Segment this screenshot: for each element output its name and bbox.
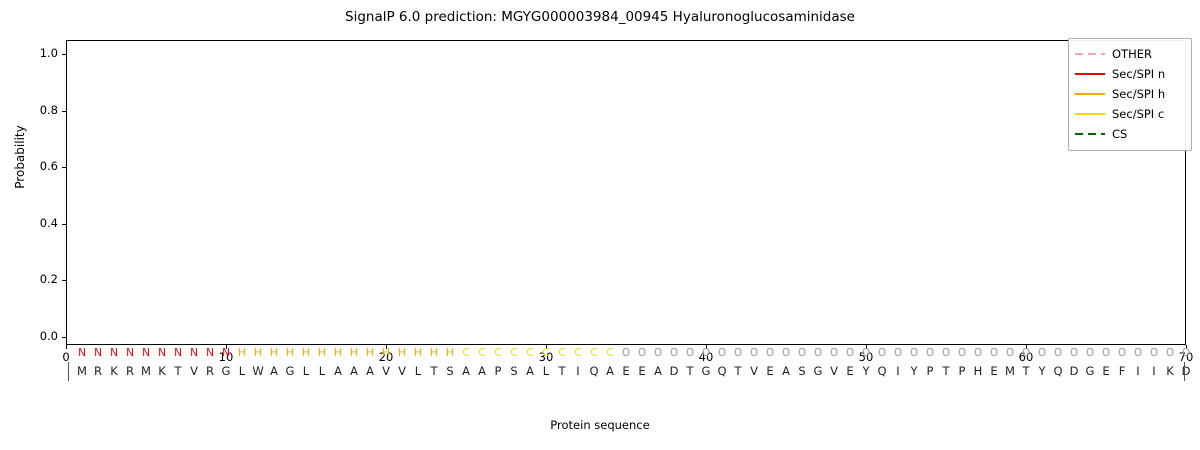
legend-item-label: Sec/SPI n [1112,67,1165,81]
residue-letter: D [1176,364,1196,378]
sequence-row-divider [68,362,69,381]
legend-swatch-icon [1075,68,1105,80]
legend-swatch-icon [1075,128,1105,140]
legend-swatch-icon [1075,108,1105,120]
legend-item-sec-spi-n[interactable]: Sec/SPI n [1075,64,1185,84]
legend-item-other[interactable]: OTHER [1075,44,1185,64]
legend-item-label: Sec/SPI c [1112,107,1164,121]
legend-item-cs[interactable]: CS [1075,124,1185,144]
annotation-letter: O [1176,347,1196,359]
sequence-row-divider [1184,362,1185,381]
x-axis-label: Protein sequence [0,418,1200,432]
legend-item-sec-spi-h[interactable]: Sec/SPI h [1075,84,1185,104]
y-tick-label: 0.2 [14,272,58,286]
y-tick-label: 0.6 [14,159,58,173]
legend-swatch-icon [1075,48,1105,60]
y-tick-label: 0.4 [14,216,58,230]
annotation-row: NNNNNNNNNNHHHHHHHHHHHHHHCCCCCCCCCCOOOOOO… [0,347,1200,362]
legend-item-label: Sec/SPI h [1112,87,1165,101]
legend: OTHERSec/SPI nSec/SPI hSec/SPI cCS [1068,38,1192,151]
legend-item-label: CS [1112,127,1127,141]
legend-item-label: OTHER [1112,47,1152,61]
page-title: SignalP 6.0 prediction: MGYG000003984_00… [0,9,1200,25]
y-tick-label: 0.0 [14,329,58,343]
y-tick-label: 0.8 [14,103,58,117]
plot-frame [66,40,1186,345]
legend-item-sec-spi-c[interactable]: Sec/SPI c [1075,104,1185,124]
sequence-row: MRKRMKTVRGLWAGLLAAAVVLTSAAPSALTIQAEEADTG… [0,364,1200,382]
legend-swatch-icon [1075,88,1105,100]
signalp-plot-figure: SignalP 6.0 prediction: MGYG000003984_00… [0,0,1200,450]
y-axis-label: Probability [13,47,27,267]
y-tick-label: 1.0 [14,46,58,60]
